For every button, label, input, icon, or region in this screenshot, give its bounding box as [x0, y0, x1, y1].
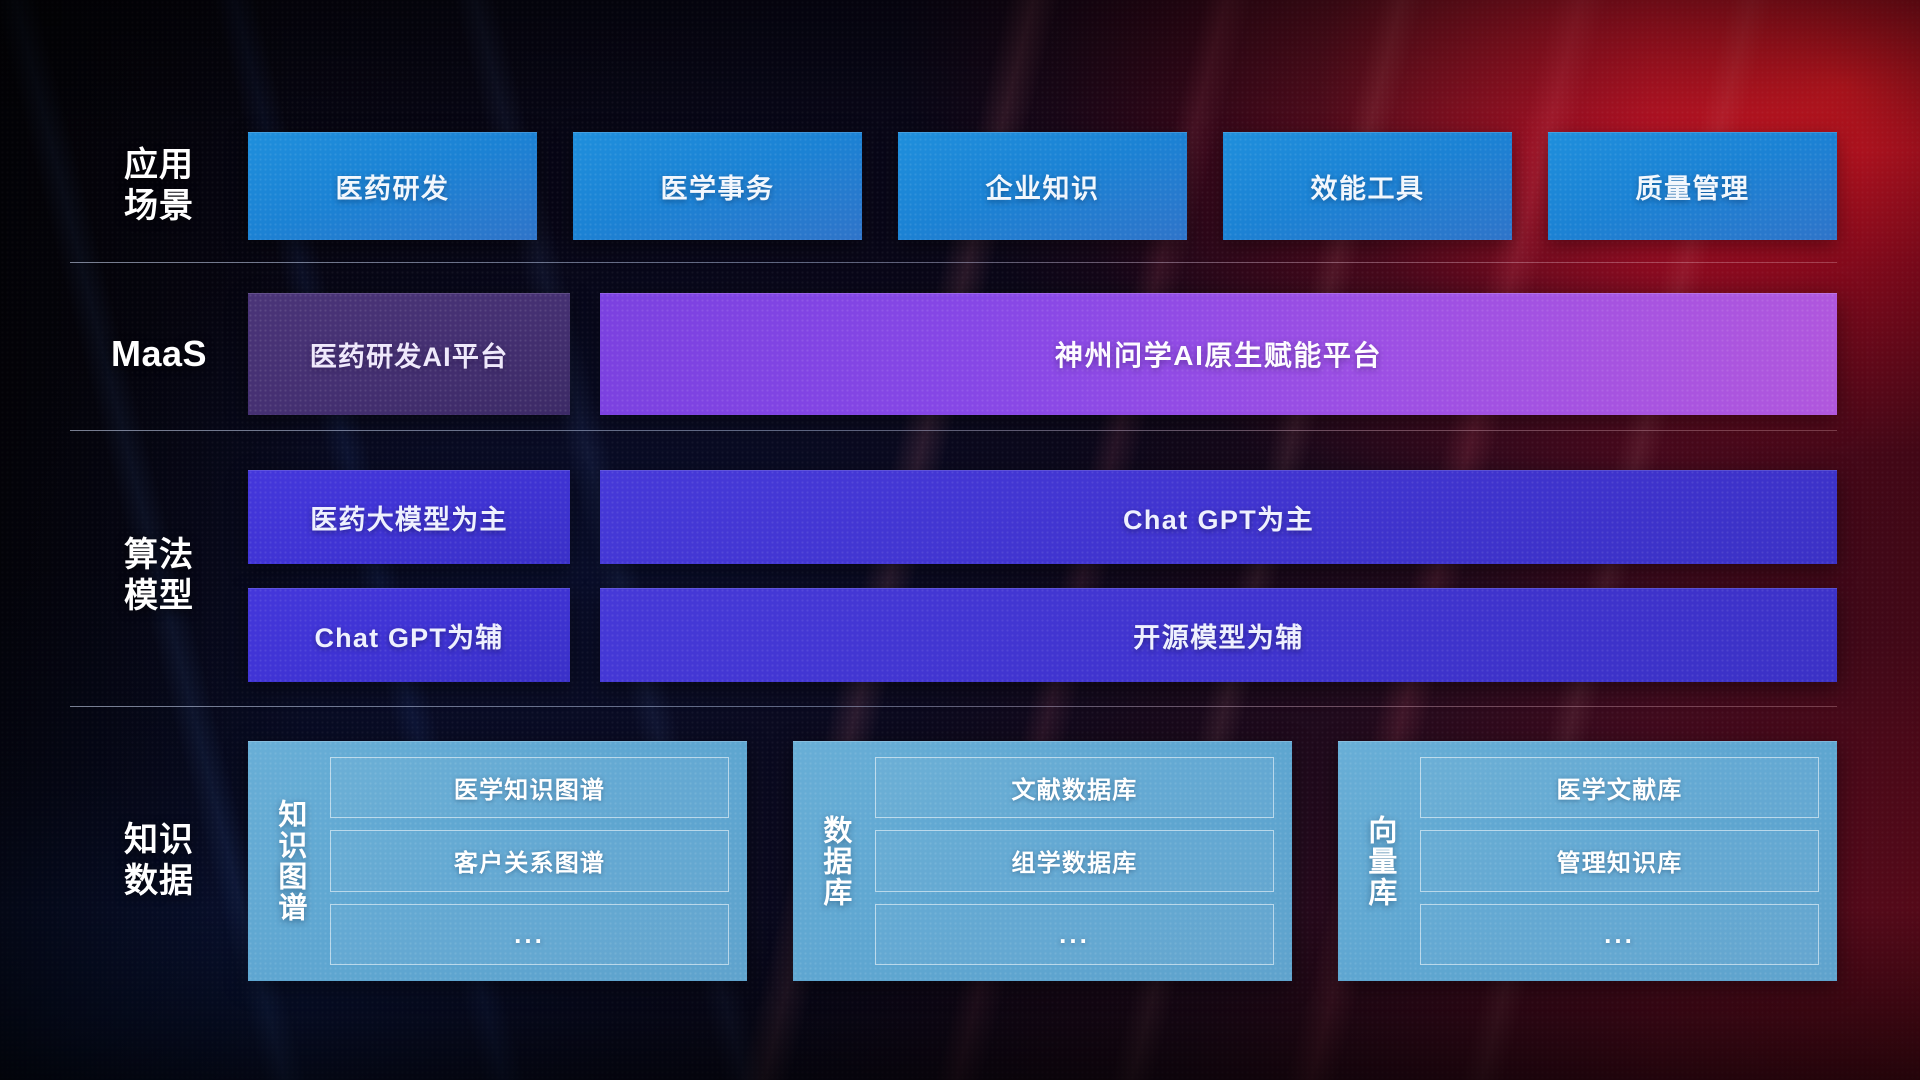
divider-app-maas [70, 262, 1837, 263]
knowledge-item-customer-relation-graph[interactable]: 客户关系图谱 [330, 830, 729, 891]
knowledge-item-literature-database[interactable]: 文献数据库 [875, 757, 1274, 818]
knowledge-item-management-knowledge-store[interactable]: 管理知识库 [1420, 830, 1819, 891]
row-label-line: 数据 [70, 861, 248, 902]
row-label-line: 场景 [70, 186, 248, 227]
app-card-quality-management[interactable]: 质量管理 [1548, 132, 1837, 240]
row-label-line: 算法 [70, 535, 248, 576]
knowledge-group-list: 知识图谱 医学知识图谱 客户关系图谱 ... 数据库 文献数据库 组学数据库 .… [248, 741, 1837, 981]
divider-algo-knowledge [70, 706, 1837, 707]
maas-card-pharma-ai-platform[interactable]: 医药研发AI平台 [248, 293, 570, 415]
row-label-maas: MaaS [70, 332, 248, 376]
algorithm-row-secondary: Chat GPT为辅 开源模型为辅 [248, 588, 1837, 682]
knowledge-item-more[interactable]: ... [330, 904, 729, 965]
app-card-label: 效能工具 [1311, 167, 1425, 206]
algo-card-pharma-llm-primary[interactable]: 医药大模型为主 [248, 470, 570, 564]
knowledge-item-list: 医学知识图谱 客户关系图谱 ... [330, 757, 729, 965]
knowledge-group-title: 数据库 [803, 757, 865, 965]
divider-maas-algo [70, 430, 1837, 431]
row-label-line: MaaS [70, 332, 248, 376]
app-card-label: 质量管理 [1636, 167, 1750, 206]
app-card-efficiency-tools[interactable]: 效能工具 [1223, 132, 1512, 240]
application-card-list: 医药研发 医学事务 企业知识 效能工具 质量管理 [248, 132, 1837, 240]
algo-card-label: 医药大模型为主 [310, 498, 507, 537]
algo-card-label: Chat GPT为辅 [314, 616, 503, 655]
knowledge-group-database[interactable]: 数据库 文献数据库 组学数据库 ... [793, 741, 1292, 981]
algo-card-chatgpt-primary[interactable]: Chat GPT为主 [600, 470, 1837, 564]
diagram-canvas: 应用 场景 医药研发 医学事务 企业知识 效能工具 质量管理 [0, 0, 1920, 1080]
app-card-medical-affairs[interactable]: 医学事务 [573, 132, 862, 240]
algo-card-label: 开源模型为辅 [1133, 616, 1303, 655]
row-label-algorithm-models: 算法 模型 [70, 535, 248, 618]
row-knowledge-data: 知识 数据 知识图谱 医学知识图谱 客户关系图谱 ... 数据库 文献数据库 [70, 735, 1837, 987]
row-maas: MaaS 医药研发AI平台 神州问学AI原生赋能平台 [70, 290, 1837, 418]
knowledge-group-title: 知识图谱 [258, 757, 320, 965]
app-card-label: 医学事务 [661, 167, 775, 206]
knowledge-item-more[interactable]: ... [875, 904, 1274, 965]
maas-card-shenzhou-wenxue-platform[interactable]: 神州问学AI原生赋能平台 [600, 293, 1837, 415]
algo-card-chatgpt-secondary[interactable]: Chat GPT为辅 [248, 588, 570, 682]
algo-card-label: Chat GPT为主 [1123, 498, 1314, 537]
app-card-pharma-rd[interactable]: 医药研发 [248, 132, 537, 240]
knowledge-item-list: 医学文献库 管理知识库 ... [1420, 757, 1819, 965]
app-card-enterprise-knowledge[interactable]: 企业知识 [898, 132, 1187, 240]
app-card-label: 企业知识 [986, 167, 1100, 206]
knowledge-group-knowledge-graph[interactable]: 知识图谱 医学知识图谱 客户关系图谱 ... [248, 741, 747, 981]
diagram-content: 应用 场景 医药研发 医学事务 企业知识 效能工具 质量管理 [0, 0, 1920, 1080]
maas-card-label: 神州问学AI原生赋能平台 [1055, 334, 1382, 374]
row-label-application-scenarios: 应用 场景 [70, 145, 248, 228]
app-card-label: 医药研发 [336, 167, 450, 206]
maas-card-label: 医药研发AI平台 [310, 335, 509, 374]
row-label-line: 模型 [70, 576, 248, 617]
knowledge-item-more[interactable]: ... [1420, 904, 1819, 965]
row-label-knowledge-data: 知识 数据 [70, 820, 248, 903]
algo-card-opensource-secondary[interactable]: 开源模型为辅 [600, 588, 1837, 682]
knowledge-item-list: 文献数据库 组学数据库 ... [875, 757, 1274, 965]
row-application-scenarios: 应用 场景 医药研发 医学事务 企业知识 效能工具 质量管理 [70, 126, 1837, 246]
row-label-line: 知识 [70, 820, 248, 861]
knowledge-group-title: 向量库 [1348, 757, 1410, 965]
knowledge-group-vector-store[interactable]: 向量库 医学文献库 管理知识库 ... [1338, 741, 1837, 981]
knowledge-item-medical-knowledge-graph[interactable]: 医学知识图谱 [330, 757, 729, 818]
knowledge-item-medical-literature-store[interactable]: 医学文献库 [1420, 757, 1819, 818]
algorithm-block-list: 医药大模型为主 Chat GPT为主 Chat GPT为辅 开源模型为辅 [248, 470, 1837, 682]
knowledge-item-omics-database[interactable]: 组学数据库 [875, 830, 1274, 891]
maas-platform-list: 医药研发AI平台 神州问学AI原生赋能平台 [248, 293, 1837, 415]
algorithm-row-primary: 医药大模型为主 Chat GPT为主 [248, 470, 1837, 564]
row-label-line: 应用 [70, 145, 248, 186]
row-algorithm-models: 算法 模型 医药大模型为主 Chat GPT为主 Chat GPT为辅 [70, 458, 1837, 694]
